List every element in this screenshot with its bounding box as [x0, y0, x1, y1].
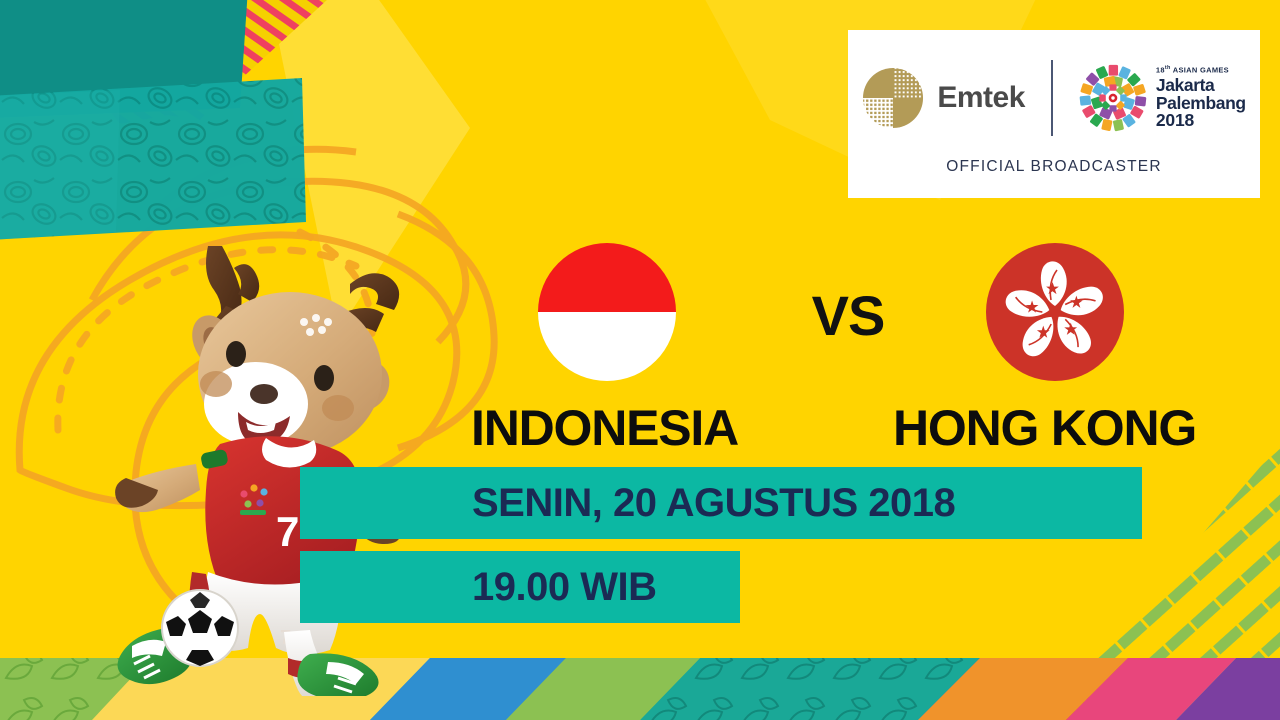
asian-games-year: 2018: [1156, 112, 1246, 130]
energy-of-asia-logo-icon: [1077, 62, 1149, 134]
emtek-logo: Emtek: [862, 67, 1051, 129]
emtek-circle-logo-icon: [862, 67, 924, 129]
asian-games-wordmark: 18th ASIAN GAMES Jakarta Palembang 2018: [1156, 66, 1246, 130]
indonesia-flag-white-band: [538, 312, 676, 381]
logo-divider: [1051, 60, 1053, 136]
match-time-banner: 19.00 WIB: [300, 551, 740, 623]
hong-kong-flag: [986, 243, 1124, 381]
bauhinia-flower-icon: [986, 243, 1124, 381]
asian-games-logo: 18th ASIAN GAMES Jakarta Palembang 2018: [1053, 62, 1246, 134]
official-broadcaster-panel: Emtek: [848, 30, 1260, 198]
mascot-head: [198, 292, 382, 456]
soccer-ball-icon: [160, 588, 240, 668]
match-date-text: SENIN, 20 AGUSTUS 2018: [472, 481, 955, 526]
emtek-wordmark: Emtek: [937, 81, 1025, 115]
poster-canvas: Emtek: [0, 0, 1280, 720]
indonesia-flag-red-band: [538, 243, 676, 312]
atung-deer-mascot: 7 7: [88, 226, 440, 696]
away-team-name: HONG KONG: [893, 399, 1196, 457]
versus-label: VS: [800, 283, 896, 348]
official-broadcaster-caption: OFFICIAL BROADCASTER: [946, 158, 1161, 176]
mascot-jersey-number: 7: [276, 508, 299, 555]
match-time-text: 19.00 WIB: [472, 565, 656, 610]
match-date-banner: SENIN, 20 AGUSTUS 2018: [300, 467, 1142, 539]
asian-games-kicker: 18th ASIAN GAMES: [1156, 66, 1246, 74]
indonesia-flag: [538, 243, 676, 381]
logo-row: Emtek: [862, 52, 1245, 144]
home-team-name: INDONESIA: [471, 399, 738, 457]
